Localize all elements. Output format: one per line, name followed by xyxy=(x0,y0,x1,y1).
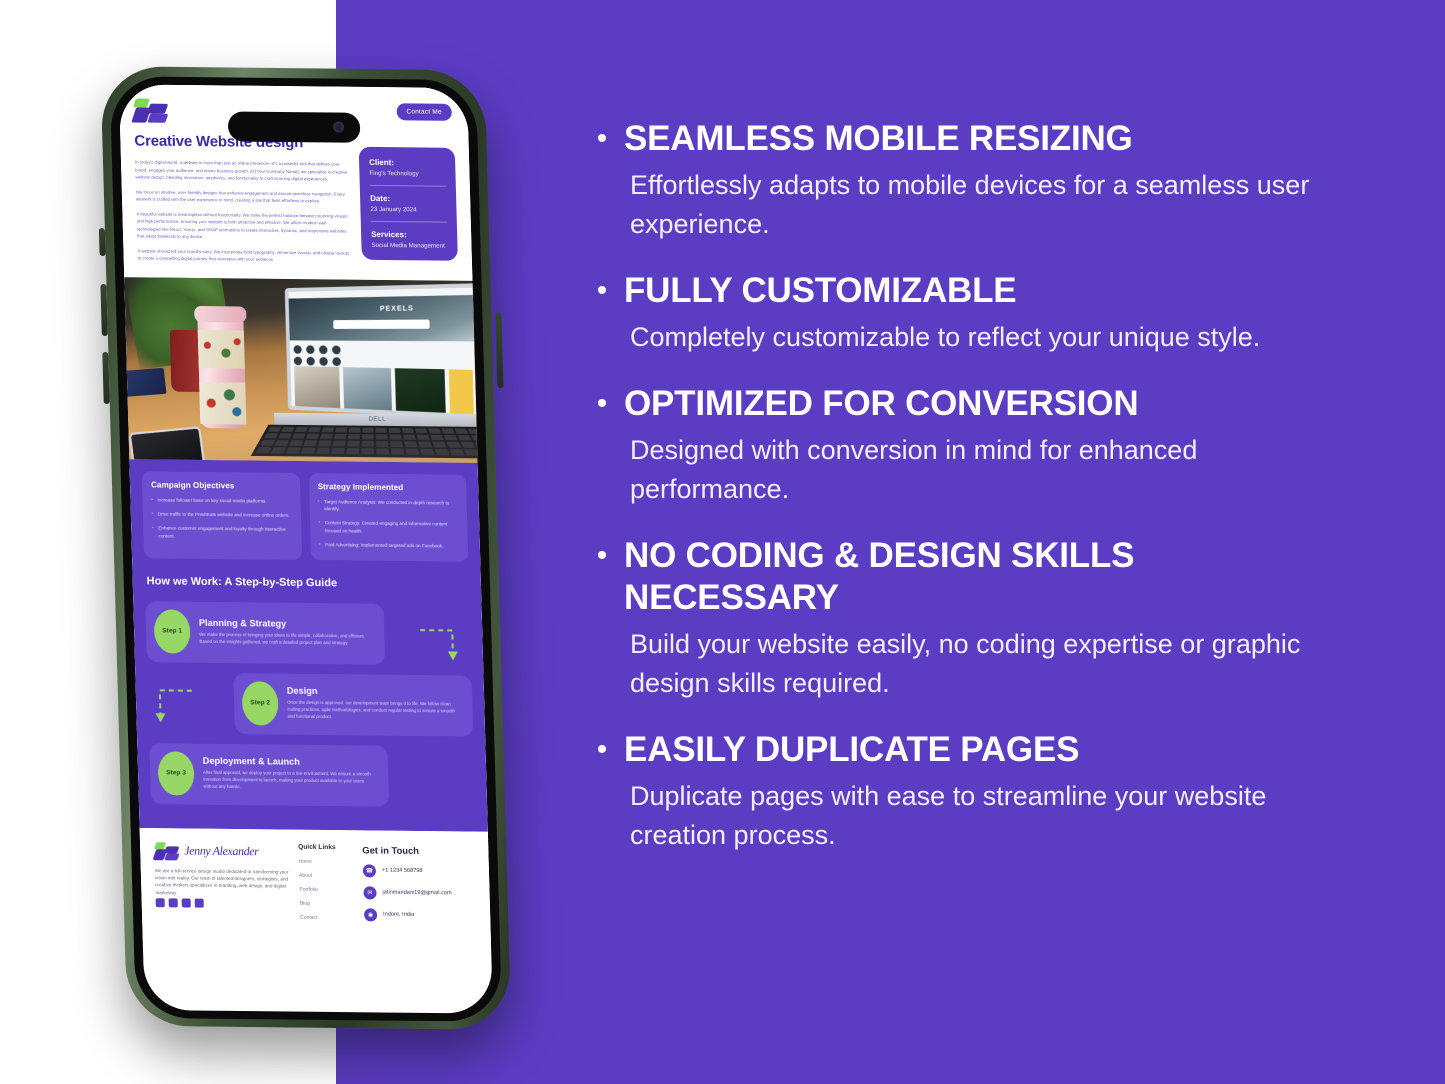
strategy-implemented-card: Strategy Implemented Target Audience Ana… xyxy=(308,473,468,562)
feature-item: • NO CODING & DESIGN SKILLS NECESSARY Bu… xyxy=(596,535,1356,703)
step-title: Planning & Strategy xyxy=(199,618,374,630)
laptop-brand-label: DELL xyxy=(368,416,386,422)
get-in-touch-heading: Get in Touch xyxy=(362,844,474,856)
brand-logo-icon xyxy=(133,98,168,122)
contact-me-button[interactable]: Contact Me xyxy=(396,103,452,121)
quick-link-contact[interactable]: Contact xyxy=(300,914,354,921)
paragraph: In today's digital world, a website is m… xyxy=(135,158,350,183)
phone-icon: ☎ xyxy=(363,864,376,877)
laptop: PEXELS xyxy=(270,284,477,462)
step-description: Once the design is approved, our develop… xyxy=(287,700,463,722)
info-row-date: Date: 23 January 2024 xyxy=(370,194,447,223)
info-label: Client: xyxy=(369,158,445,168)
pexels-logo: PEXELS xyxy=(380,305,414,313)
bullet-icon: • xyxy=(596,383,608,425)
paragraph: We focus on intuitive, user-friendly des… xyxy=(136,188,351,205)
laptop-keyboard xyxy=(251,424,478,458)
twitter-icon[interactable] xyxy=(169,898,178,907)
info-label: Date: xyxy=(370,194,446,204)
how-we-work-title: How we Work: A Step-by-Step Guide xyxy=(147,574,470,592)
facebook-icon[interactable] xyxy=(156,898,165,907)
info-row-services: Services: Social Media Management xyxy=(371,230,448,250)
list-item: Enhance customer engagement and loyalty … xyxy=(152,525,292,541)
footer-about-column: Jenny Alexander We are a full-service de… xyxy=(154,842,290,929)
quick-links-heading: Quick Links xyxy=(298,843,352,851)
feature-title: NO CODING & DESIGN SKILLS NECESSARY xyxy=(624,535,1356,619)
steps-list: Step 1 Planning & Strategy We make the p… xyxy=(145,601,475,807)
social-links[interactable] xyxy=(156,898,290,908)
phone-notch xyxy=(228,111,361,142)
bullet-icon: • xyxy=(596,118,608,160)
quick-link-home[interactable]: Home xyxy=(299,858,353,865)
quick-link-blog[interactable]: Blog xyxy=(300,900,354,907)
hero-photo: PEXELS xyxy=(124,277,477,463)
notebook xyxy=(124,367,166,396)
project-info-card: Client: Fing's Technology Date: 23 Janua… xyxy=(359,147,458,261)
list-item: Content Strategy: Created engaging and i… xyxy=(319,519,459,535)
bullet-icon: • xyxy=(596,270,608,312)
phone-mute-switch[interactable] xyxy=(99,228,106,256)
phone-screen[interactable]: Contact Me Creative Website design In to… xyxy=(119,84,493,1013)
step-description: We make the process of bringing your ide… xyxy=(199,632,374,647)
footer-quick-links-column: Quick Links Home About Portfolio Blog Co… xyxy=(298,843,354,930)
card-heading: Campaign Objectives xyxy=(151,480,291,490)
bullet-icon: • xyxy=(596,535,608,577)
info-value: Fing's Technology xyxy=(369,170,445,178)
website-page: Contact Me Creative Website design In to… xyxy=(119,84,491,943)
quick-link-about[interactable]: About xyxy=(299,872,353,879)
step-title: Design xyxy=(287,686,462,698)
signature-text: Jenny Alexander xyxy=(184,844,259,860)
flow-arrow-down-right-icon xyxy=(418,622,465,662)
email-icon: ✉ xyxy=(363,886,376,899)
feature-description: Effortlessly adapts to mobile devices fo… xyxy=(630,166,1356,244)
list-item: Increase follower base on key social med… xyxy=(151,496,291,505)
feature-item: • EASILY DUPLICATE PAGES Duplicate pages… xyxy=(596,729,1356,855)
info-value: Social Media Management xyxy=(371,242,447,250)
step-card-1: Step 1 Planning & Strategy We make the p… xyxy=(145,601,385,664)
feature-item: • FULLY CUSTOMIZABLE Completely customiz… xyxy=(596,270,1356,357)
smartphone-on-desk xyxy=(129,426,206,463)
quick-link-portfolio[interactable]: Portfolio xyxy=(299,886,353,893)
paragraph: A beautiful website is meaningless witho… xyxy=(136,210,351,242)
front-camera-icon xyxy=(333,122,344,133)
contact-location-value: Indore, India xyxy=(383,912,414,918)
list-item: Paid Advertising: Implemented targeted a… xyxy=(319,541,459,550)
slide-canvas: • SEAMLESS MOBILE RESIZING Effortlessly … xyxy=(0,0,1445,1084)
feature-title: EASILY DUPLICATE PAGES xyxy=(624,729,1079,771)
feature-description: Completely customizable to reflect your … xyxy=(630,318,1356,357)
contact-row-location[interactable]: ◉ Indore, India xyxy=(364,908,476,922)
feature-description: Designed with conversion in mind for enh… xyxy=(630,431,1356,509)
feature-title: SEAMLESS MOBILE RESIZING xyxy=(624,118,1133,160)
step-badge: Step 2 xyxy=(242,681,279,725)
feature-title: OPTIMIZED FOR CONVERSION xyxy=(624,383,1138,425)
feature-description: Build your website easily, no coding exp… xyxy=(630,625,1356,703)
contact-phone-value: +1 1234 568798 xyxy=(382,868,423,874)
bullet-icon: • xyxy=(596,729,608,771)
step-card-3: Step 3 Deployment & Launch After final a… xyxy=(149,743,389,806)
laptop-screen: PEXELS xyxy=(285,283,478,418)
feature-item: • SEAMLESS MOBILE RESIZING Effortlessly … xyxy=(596,118,1356,244)
feature-list: • SEAMLESS MOBILE RESIZING Effortlessly … xyxy=(596,118,1356,855)
page-body-purple: Campaign Objectives Increase follower ba… xyxy=(129,459,488,832)
phone-mockup: Contact Me Creative Website design In to… xyxy=(94,56,522,1050)
list-item: Target Audience Analysis: We conducted i… xyxy=(318,498,458,514)
linkedin-icon[interactable] xyxy=(195,899,204,908)
card-heading: Strategy Implemented xyxy=(318,482,458,492)
step-badge: Step 3 xyxy=(157,751,194,795)
flow-arrow-down-left-icon xyxy=(148,684,195,724)
location-icon: ◉ xyxy=(364,908,377,921)
step-card-2: Step 2 Design Once the design is approve… xyxy=(233,673,473,736)
paragraph: A website should tell your brand's story… xyxy=(137,247,352,264)
site-search-bar xyxy=(333,319,429,328)
info-row-client: Client: Fing's Technology xyxy=(369,158,446,187)
info-label: Services: xyxy=(371,230,447,240)
feature-item: • OPTIMIZED FOR CONVERSION Designed with… xyxy=(596,383,1356,509)
page-footer: Jenny Alexander We are a full-service de… xyxy=(140,828,491,944)
contact-row-phone[interactable]: ☎ +1 1234 568798 xyxy=(363,864,475,878)
step-badge: Step 1 xyxy=(153,609,190,653)
step-row: Step 1 Planning & Strategy We make the p… xyxy=(145,601,471,665)
step-title: Deployment & Launch xyxy=(203,756,378,768)
tumbler-cup xyxy=(197,310,246,428)
footer-contact-column: Get in Touch ☎ +1 1234 568798 ✉ jatinman… xyxy=(362,844,476,931)
objectives-strategy-row: Campaign Objectives Increase follower ba… xyxy=(142,471,469,561)
footer-logo-icon xyxy=(154,842,179,860)
contact-row-email[interactable]: ✉ jatinmandani19@gmail.com xyxy=(363,886,475,900)
campaign-objectives-card: Campaign Objectives Increase follower ba… xyxy=(142,471,302,560)
info-value: 23 January 2024 xyxy=(370,206,446,214)
list-item: Drive traffic to the FreshEats website a… xyxy=(152,510,292,519)
instagram-icon[interactable] xyxy=(182,899,191,908)
feature-description: Duplicate pages with ease to streamline … xyxy=(630,777,1356,855)
feature-title: FULLY CUSTOMIZABLE xyxy=(624,270,1016,312)
footer-about-text: We are a full-service design studio dedi… xyxy=(155,867,290,898)
page-intro-text: In today's digital world, a website is m… xyxy=(135,158,352,271)
contact-email-value: jatinmandani19@gmail.com xyxy=(382,890,451,897)
step-row: Step 3 Deployment & Launch After final a… xyxy=(149,743,475,807)
step-row: Step 2 Design Once the design is approve… xyxy=(147,672,473,736)
step-description: After final approval, we deploy your pro… xyxy=(203,770,379,792)
